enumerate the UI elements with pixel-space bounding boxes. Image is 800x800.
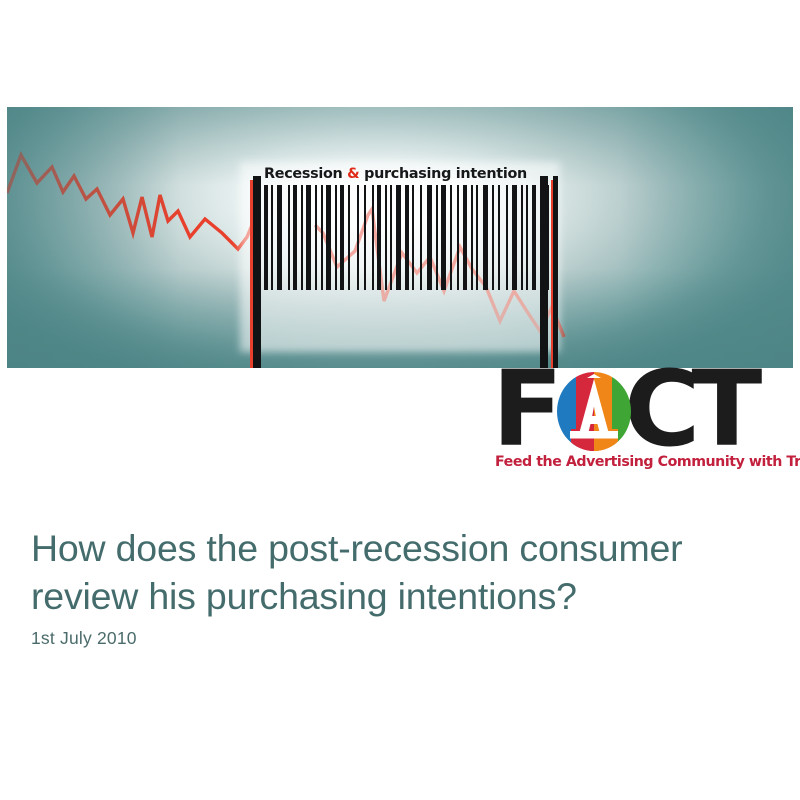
fact-logo: F xyxy=(492,370,794,480)
slide-date: 1st July 2010 xyxy=(31,628,137,649)
barcode-title-ampersand: & xyxy=(347,166,359,182)
barcode-bars xyxy=(254,185,559,290)
logo-letter-c: C xyxy=(624,370,698,449)
logo-letter-a-colored xyxy=(557,372,631,451)
fact-logo-wordmark: F xyxy=(492,370,760,452)
barcode-graphic: Recession & purchasing intention xyxy=(240,162,560,352)
fact-logo-tagline: Feed the Advertising Community with Tren… xyxy=(495,454,800,470)
logo-letter-f: F xyxy=(492,370,561,449)
logo-a-segments xyxy=(557,372,631,451)
slide-title: How does the post-recession consumer rev… xyxy=(31,524,771,620)
banner-image: Recession & purchasing intention xyxy=(7,107,793,368)
barcode-title-post: purchasing intention xyxy=(359,166,527,182)
barcode-title-pre: Recession xyxy=(264,166,347,182)
slide-canvas: Recession & purchasing intention xyxy=(0,0,800,800)
logo-letter-t: T xyxy=(691,370,760,449)
barcode-title: Recession & purchasing intention xyxy=(264,167,527,182)
